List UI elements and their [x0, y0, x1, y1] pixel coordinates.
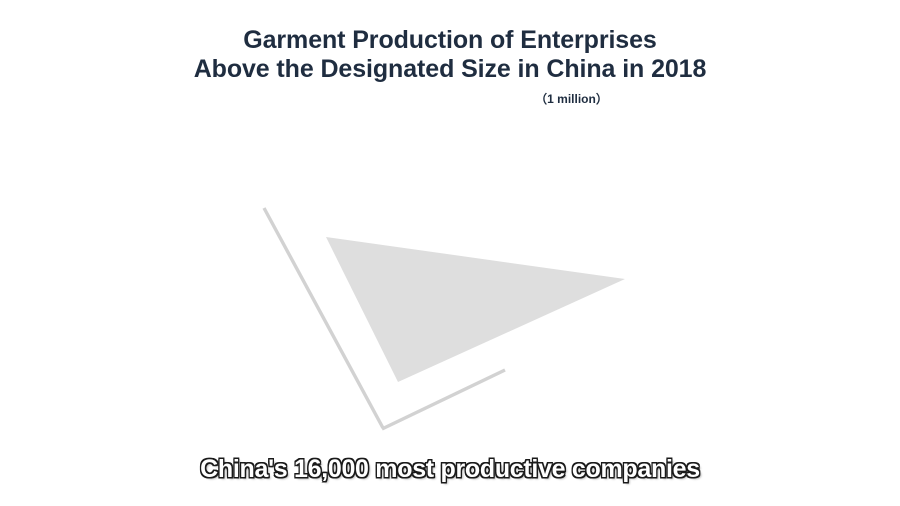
y-axis-line — [264, 208, 383, 428]
chart-plot-area — [0, 0, 900, 506]
chart-caption: China's 16,000 most productive companies — [0, 455, 900, 484]
chart-frame: Garment Production of Enterprises Above … — [0, 0, 900, 506]
series-area-shape — [326, 237, 625, 382]
chart-graphic — [0, 0, 900, 506]
